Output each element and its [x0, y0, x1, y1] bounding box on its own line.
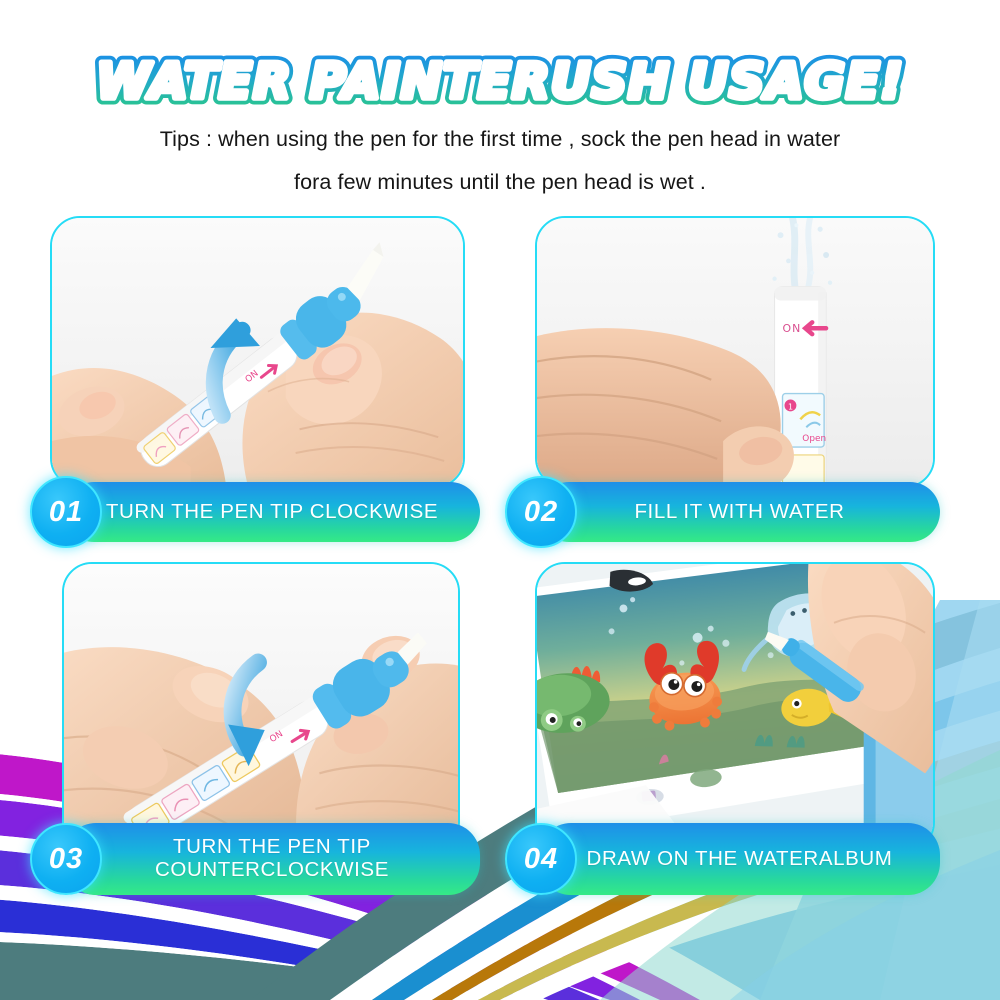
step-number-3: 03 [49, 843, 83, 876]
step-label-1[interactable]: TURN THE PEN TIP CLOCKWISE 01 [30, 482, 480, 542]
photo-pen-clockwise: ON [52, 218, 463, 486]
photo-draw-on-wateralbum [537, 564, 933, 850]
step-pill-3[interactable]: TURN THE PEN TIP COUNTERCLOCKWISE [64, 823, 480, 895]
step-pill-4[interactable]: DRAW ON THE WATERALBUM [539, 823, 940, 895]
tips-line-1: Tips : when using the pen for the first … [0, 127, 1000, 152]
page-title: WATER PAINTERUSH USAGE! WATER PAINTERUSH… [0, 48, 1000, 110]
step-badge-4: 04 [505, 823, 577, 895]
pen-on-label-2: ON [783, 322, 802, 335]
poster-canvas: WATER PAINTERUSH USAGE! WATER PAINTERUSH… [0, 0, 1000, 1000]
step-caption-4: DRAW ON THE WATERALBUM [587, 848, 893, 871]
step-label-2[interactable]: FILL IT WITH WATER 02 [505, 482, 940, 542]
step-number-2: 02 [524, 496, 558, 529]
step-badge-1: 01 [30, 476, 102, 548]
tips-line-2: fora few minutes until the pen head is w… [0, 170, 1000, 195]
photo-fill-with-water: ON 1 Open [537, 218, 933, 486]
step-pill-2[interactable]: FILL IT WITH WATER [539, 482, 940, 542]
step-badge-3: 03 [30, 823, 102, 895]
page-title-fill: WATER PAINTERUSH USAGE! [96, 52, 904, 110]
step-photo-2: ON 1 Open [535, 216, 935, 488]
step-pill-1[interactable]: TURN THE PEN TIP CLOCKWISE [64, 482, 480, 542]
pen-open-label: Open [802, 434, 826, 444]
step-photo-4 [535, 562, 935, 852]
step-caption-2: FILL IT WITH WATER [634, 501, 844, 524]
step-photo-1: ON [50, 216, 465, 488]
page-title-svg: WATER PAINTERUSH USAGE! WATER PAINTERUSH… [80, 40, 920, 118]
svg-text:1: 1 [788, 402, 793, 411]
step-number-1: 01 [49, 496, 83, 529]
step-label-3[interactable]: TURN THE PEN TIP COUNTERCLOCKWISE 03 [30, 823, 480, 895]
step-label-4[interactable]: DRAW ON THE WATERALBUM 04 [505, 823, 940, 895]
step-badge-2: 02 [505, 476, 577, 548]
step-caption-1: TURN THE PEN TIP CLOCKWISE [106, 501, 438, 524]
step-photo-3: ON [62, 562, 460, 852]
photo-pen-counterclockwise: ON [64, 564, 458, 850]
step-number-4: 04 [524, 843, 558, 876]
step-caption-3: TURN THE PEN TIP COUNTERCLOCKWISE [155, 836, 389, 882]
